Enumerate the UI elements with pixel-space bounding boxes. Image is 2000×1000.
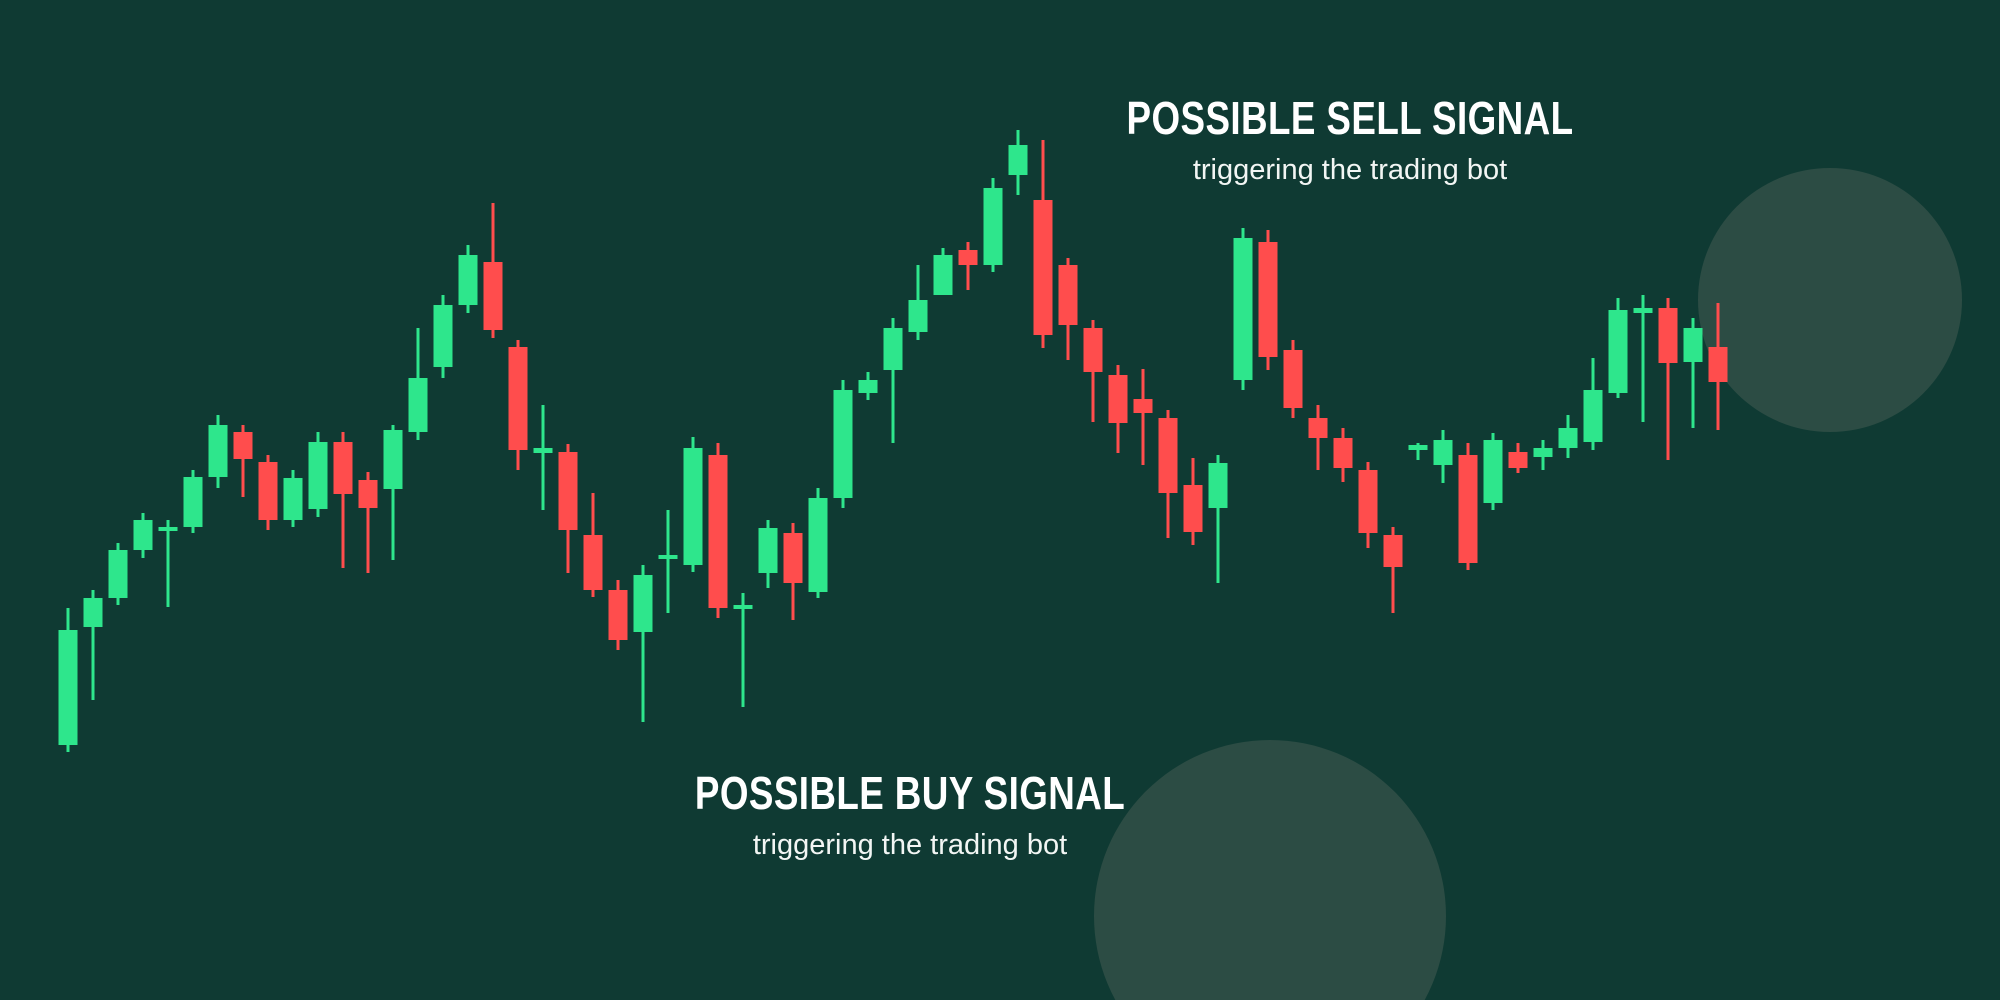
candle-body <box>1209 463 1228 508</box>
candle-body <box>1109 375 1128 423</box>
candle-body <box>1709 347 1728 382</box>
candle-body <box>1234 238 1253 380</box>
candle-body <box>909 300 928 332</box>
candle-wick <box>1642 295 1645 422</box>
candle <box>609 580 628 650</box>
candle-body <box>584 535 603 590</box>
candle <box>1259 230 1278 370</box>
candle-body <box>209 425 228 477</box>
candle-body <box>534 448 553 453</box>
candle-body <box>434 305 453 367</box>
candle-body <box>934 255 953 295</box>
candle <box>1284 340 1303 418</box>
candle-wick <box>1142 369 1145 465</box>
candle-body <box>484 262 503 330</box>
candle-wick <box>667 510 670 613</box>
candle-body <box>1434 440 1453 465</box>
candle-body <box>1584 390 1603 442</box>
candle-body <box>609 590 628 640</box>
candle-body <box>1059 265 1078 325</box>
candle-body <box>109 550 128 598</box>
candle <box>309 432 328 517</box>
candle-body <box>959 250 978 265</box>
candle-body <box>784 533 803 583</box>
candle-body <box>559 452 578 530</box>
candle-body <box>384 430 403 489</box>
candle-body <box>509 347 528 450</box>
candle <box>984 178 1003 272</box>
candle-body <box>134 520 153 550</box>
candle <box>459 245 478 313</box>
candle-body <box>1634 308 1653 313</box>
candle <box>259 455 278 530</box>
candle-body <box>1534 448 1553 457</box>
candle-body <box>709 455 728 608</box>
candle-body <box>759 528 778 573</box>
candle-body <box>809 498 828 592</box>
candle-wick <box>967 242 970 290</box>
candle-body <box>1559 428 1578 448</box>
candle <box>1609 298 1628 398</box>
candle-body <box>359 480 378 508</box>
candle-body <box>1484 440 1503 503</box>
candle-body <box>1359 470 1378 533</box>
candle <box>109 543 128 605</box>
candle-body <box>459 255 478 305</box>
candlestick-chart <box>0 0 2000 1000</box>
candle-body <box>259 462 278 520</box>
candle <box>934 248 953 295</box>
candle-body <box>1284 350 1303 408</box>
candle-body <box>1134 399 1153 413</box>
candle-body <box>284 478 303 520</box>
candle-body <box>1309 418 1328 438</box>
candle-body <box>834 390 853 498</box>
candle-body <box>334 442 353 494</box>
candle-body <box>659 555 678 559</box>
candle <box>1459 443 1478 570</box>
candle-body <box>1009 145 1028 175</box>
sell-signal-circle <box>1698 168 1962 432</box>
candle-wick <box>167 520 170 607</box>
candle <box>684 437 703 572</box>
candle-wick <box>542 405 545 510</box>
candle-body <box>309 442 328 509</box>
candle <box>809 488 828 598</box>
candle-body <box>1084 328 1103 372</box>
candle-body <box>1509 452 1528 468</box>
candle-body <box>1409 445 1428 450</box>
candle-body <box>1609 310 1628 393</box>
candle <box>284 470 303 527</box>
candle-body <box>84 598 103 627</box>
candle-body <box>234 432 253 459</box>
candle <box>184 470 203 533</box>
candle-body <box>1159 418 1178 493</box>
candle <box>1234 228 1253 390</box>
candle <box>1484 433 1503 510</box>
candle <box>434 295 453 378</box>
candle-body <box>184 477 203 527</box>
candle-body <box>634 575 653 632</box>
candlestick-chart-scene: POSSIBLE SELL SIGNAL triggering the trad… <box>0 0 2000 1000</box>
candle-body <box>1659 308 1678 363</box>
candle-body <box>1034 200 1053 335</box>
candle-body <box>859 380 878 393</box>
candle <box>709 443 728 618</box>
candle-body <box>409 378 428 432</box>
candle-body <box>1184 485 1203 532</box>
candle-body <box>1459 455 1478 563</box>
candle-body <box>984 188 1003 265</box>
candle-body <box>1259 242 1278 357</box>
candle-body <box>159 527 178 531</box>
candle-body <box>1684 328 1703 362</box>
candle-body <box>884 328 903 370</box>
candle-body <box>1334 438 1353 468</box>
candle-body <box>684 448 703 565</box>
candle-body <box>59 630 78 745</box>
candle <box>834 380 853 508</box>
candle-body <box>1384 535 1403 567</box>
candle-wick <box>742 593 745 707</box>
candle-body <box>734 605 753 609</box>
